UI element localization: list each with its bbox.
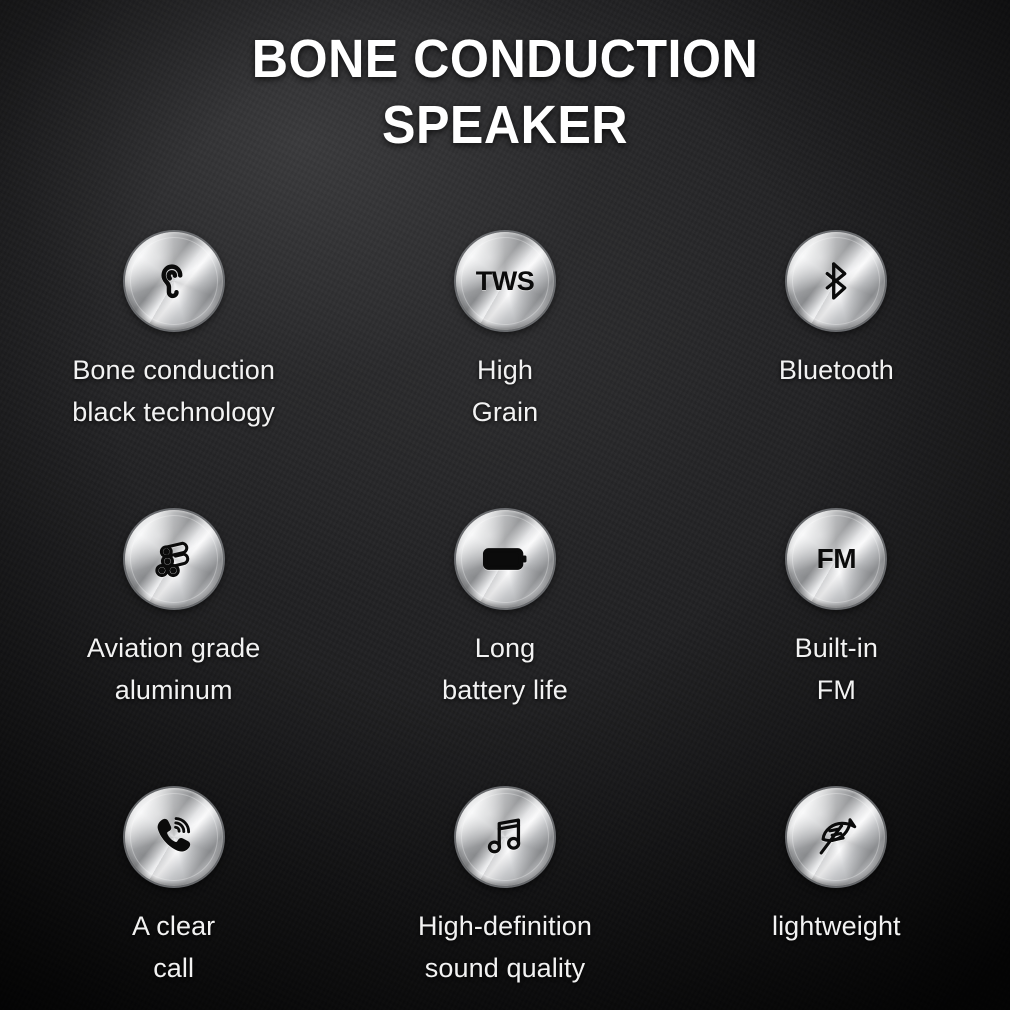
icon-disc xyxy=(125,788,223,886)
feature-label: A clear call xyxy=(132,905,215,989)
feather-icon xyxy=(787,788,885,886)
feature-item-lightweight: lightweight xyxy=(671,788,1002,1010)
feature-grid: Bone conduction black technology TWS Hig… xyxy=(8,232,1002,1010)
feature-label: Aviation grade aluminum xyxy=(87,627,261,711)
icon-disc xyxy=(125,510,223,608)
icon-disc xyxy=(125,232,223,330)
feature-label: Long battery life xyxy=(442,627,568,711)
feature-item-high-grain: TWS High Grain xyxy=(339,232,670,510)
feature-item-built-in-fm: FM Built-in FM xyxy=(671,510,1002,788)
feature-label: High-definition sound quality xyxy=(418,905,592,989)
aluminum-tubes-icon xyxy=(125,510,223,608)
product-feature-poster: BONE CONDUCTION SPEAKER Bone conduction … xyxy=(0,0,1010,1010)
icon-disc: TWS xyxy=(456,232,554,330)
battery-full-icon xyxy=(456,510,554,608)
icon-disc xyxy=(787,232,885,330)
feature-item-battery-life: Long battery life xyxy=(339,510,670,788)
feature-label: High Grain xyxy=(472,349,539,433)
feature-item-clear-call: A clear call xyxy=(8,788,339,1010)
title-line-1: BONE CONDUCTION xyxy=(35,26,974,92)
fm-text-icon: FM xyxy=(787,510,885,608)
feature-label: Built-in FM xyxy=(795,627,878,711)
icon-disc xyxy=(787,788,885,886)
page-title: BONE CONDUCTION SPEAKER xyxy=(0,26,1010,158)
icon-disc xyxy=(456,788,554,886)
feature-label: Bone conduction black technology xyxy=(72,349,275,433)
bluetooth-icon xyxy=(787,232,885,330)
feature-label: Bluetooth xyxy=(779,349,894,391)
title-line-2: SPEAKER xyxy=(35,92,974,158)
tws-label: TWS xyxy=(476,268,535,295)
feature-item-aviation-aluminum: Aviation grade aluminum xyxy=(8,510,339,788)
feature-item-bluetooth: Bluetooth xyxy=(671,232,1002,510)
music-note-icon xyxy=(456,788,554,886)
ear-icon xyxy=(125,232,223,330)
feature-item-sound-quality: High-definition sound quality xyxy=(339,788,670,1010)
feature-item-bone-conduction: Bone conduction black technology xyxy=(8,232,339,510)
icon-disc: FM xyxy=(787,510,885,608)
tws-text-icon: TWS xyxy=(456,232,554,330)
phone-call-ringing-icon xyxy=(125,788,223,886)
icon-disc xyxy=(456,510,554,608)
fm-label: FM xyxy=(817,545,856,573)
feature-label: lightweight xyxy=(772,905,901,947)
